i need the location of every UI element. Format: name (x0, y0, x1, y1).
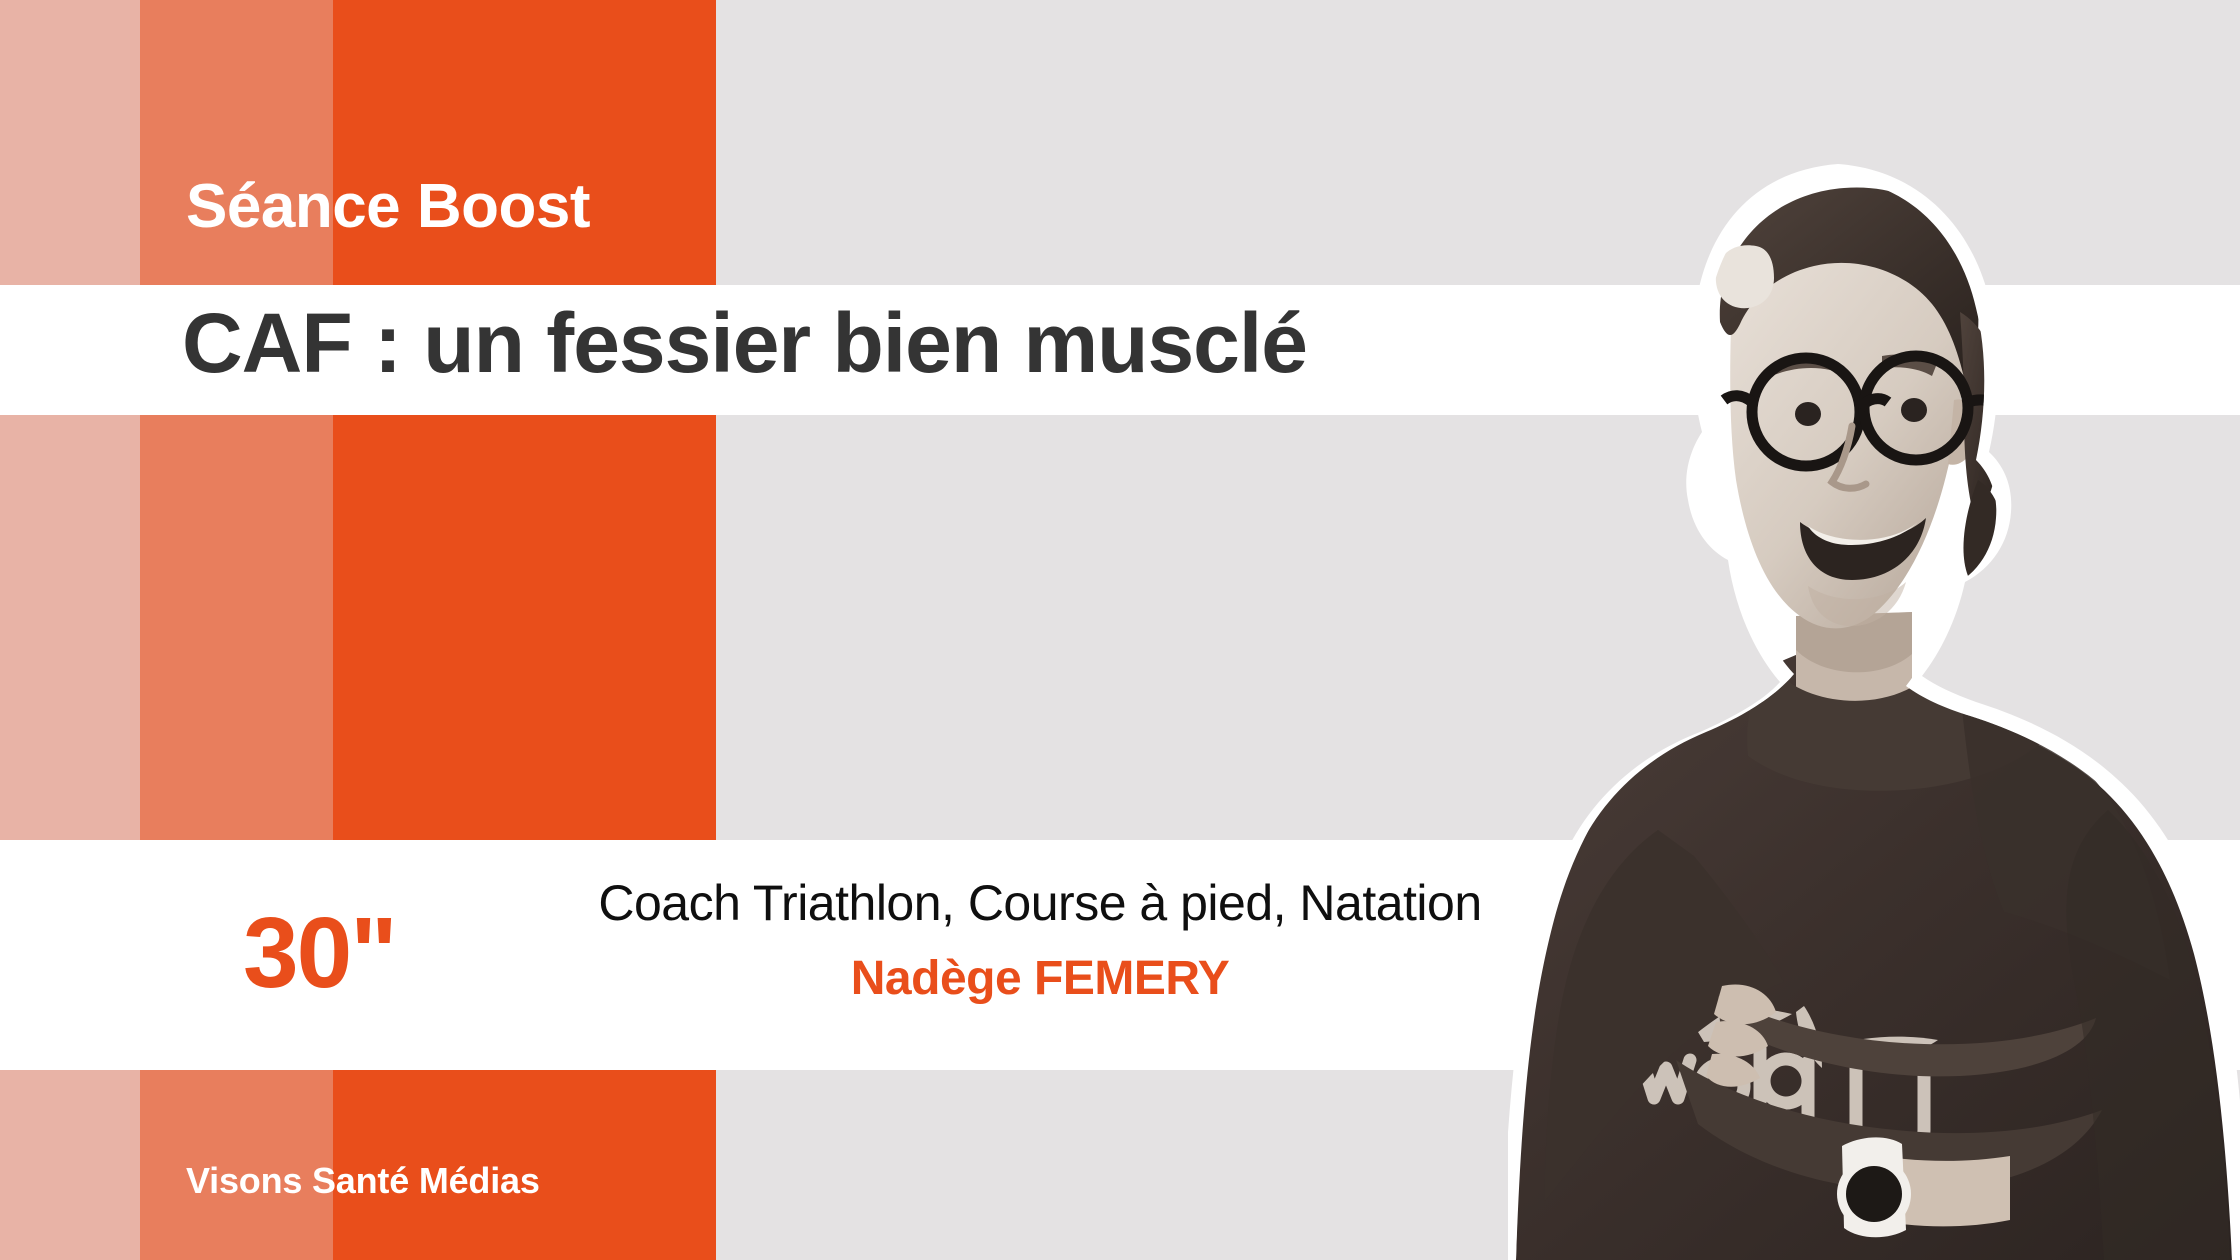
presentation-slide: Séance Boost CAF : un fessier bien muscl… (0, 0, 2240, 1260)
footer-brand: Visons Santé Médias (186, 1163, 540, 1199)
coach-role: Coach Triathlon, Course à pied, Natation (540, 875, 1540, 933)
duration-label: 30" (243, 903, 396, 1003)
color-column-pale-salmon (0, 0, 140, 1260)
color-column-light-grey (716, 0, 2240, 1260)
coach-name: Nadège FEMERY (540, 951, 1540, 1006)
coach-info-block: Coach Triathlon, Course à pied, Natation… (540, 875, 1540, 1006)
page-title: CAF : un fessier bien musclé (182, 297, 1307, 389)
slide-kicker: Séance Boost (186, 176, 590, 238)
